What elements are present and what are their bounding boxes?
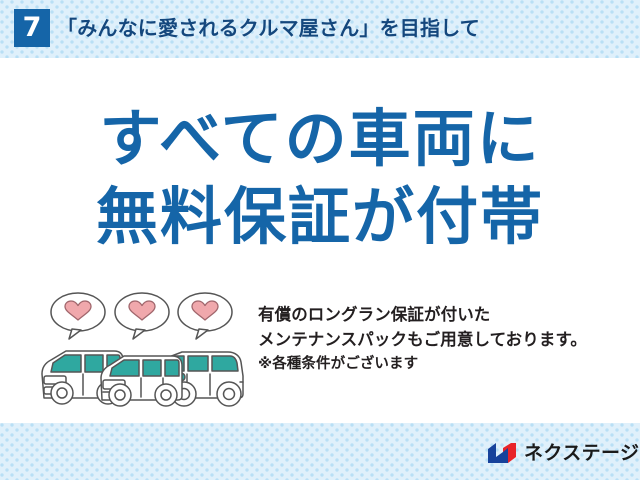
heart-bubble-1 [51, 293, 105, 339]
headline: すべての車両に 無料保証が付帯 [0, 100, 640, 256]
cars-illustration [32, 290, 252, 410]
content-panel: すべての車両に 無料保証が付帯 [0, 58, 640, 423]
header-title: 「みんなに愛されるクルマ屋さん」を目指して [57, 12, 480, 44]
body-copy-note: ※各種条件がございます [258, 352, 636, 376]
heart-bubble-2 [115, 293, 169, 339]
cars-illustration-svg [32, 290, 252, 410]
headline-line-2: 無料保証が付帯 [0, 178, 640, 256]
body-copy-line-1: 有償のロングラン保証が付いた [258, 302, 636, 327]
brand-logo: ネクステージ [487, 440, 639, 466]
nextage-n-mark-icon [487, 442, 517, 464]
section-number-badge: 7 [14, 9, 50, 47]
heart-bubble-3 [178, 293, 232, 339]
body-copy: 有償のロングラン保証が付いた メンテナンスパックもご用意しております。 ※各種条… [258, 302, 636, 376]
body-copy-line-2: メンテナンスパックもご用意しております。 [258, 327, 636, 352]
car-minivan-center [101, 356, 182, 406]
brand-name: ネクステージ [524, 442, 639, 464]
headline-line-1: すべての車両に [0, 100, 640, 178]
promo-banner: 7 「みんなに愛されるクルマ屋さん」を目指して すべての車両に 無料保証が付帯 [0, 0, 640, 480]
lower-content-row: 有償のロングラン保証が付いた メンテナンスパックもご用意しております。 ※各種条… [0, 290, 640, 420]
